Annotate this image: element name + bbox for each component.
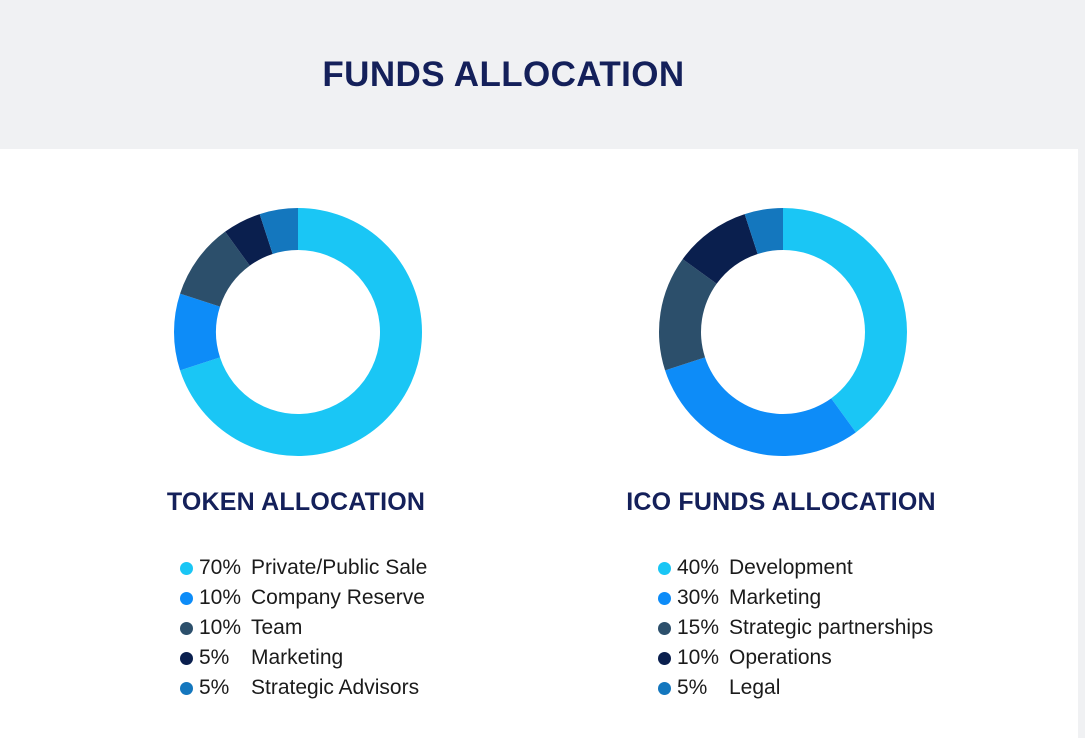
legend-item: 10%Team xyxy=(180,613,302,643)
legend-percent: 5% xyxy=(199,646,244,670)
legend-percent: 15% xyxy=(677,616,722,640)
panel-heading-token: TOKEN ALLOCATION xyxy=(66,488,526,517)
legend-label: Operations xyxy=(729,646,832,670)
legend-color-swatch xyxy=(180,652,193,665)
donut-segment xyxy=(174,294,220,371)
legend-percent: 10% xyxy=(199,616,244,640)
legend-percent: 5% xyxy=(199,676,244,700)
donut-svg-token xyxy=(172,206,424,458)
legend-color-swatch xyxy=(180,592,193,605)
legend-item: 10%Operations xyxy=(658,643,832,673)
legend-label: Marketing xyxy=(729,586,821,610)
legend-color-swatch xyxy=(658,652,671,665)
legend-color-swatch xyxy=(658,562,671,575)
legend-item: 30%Marketing xyxy=(658,583,821,613)
legend-label: Strategic Advisors xyxy=(251,676,419,700)
legend-color-swatch xyxy=(658,622,671,635)
legend-percent: 5% xyxy=(677,676,722,700)
donut-svg-ico xyxy=(657,206,909,458)
panel-token-allocation: TOKEN ALLOCATION 70%Private/Public Sale1… xyxy=(66,149,526,738)
legend-item: 70%Private/Public Sale xyxy=(180,553,427,583)
panel-ico-funds-allocation: ICO FUNDS ALLOCATION 40%Development30%Ma… xyxy=(551,149,1011,738)
page-title: FUNDS ALLOCATION xyxy=(0,0,1007,149)
legend-item: 40%Development xyxy=(658,553,853,583)
legend-label: Company Reserve xyxy=(251,586,425,610)
legend-color-swatch xyxy=(180,562,193,575)
legend-percent: 40% xyxy=(677,556,722,580)
donut-chart-ico-funds-allocation xyxy=(657,206,909,458)
legend-ico: 40%Development30%Marketing15%Strategic p… xyxy=(551,553,1011,703)
donut-segment xyxy=(665,357,856,456)
right-margin-strip xyxy=(1078,149,1085,738)
legend-percent: 30% xyxy=(677,586,722,610)
legend-color-swatch xyxy=(658,592,671,605)
legend-color-swatch xyxy=(180,622,193,635)
legend-color-swatch xyxy=(658,682,671,695)
legend-label: Development xyxy=(729,556,853,580)
legend-label: Strategic partnerships xyxy=(729,616,933,640)
header-band: FUNDS ALLOCATION xyxy=(0,0,1085,149)
donut-segment xyxy=(783,208,907,432)
legend-label: Marketing xyxy=(251,646,343,670)
legend-item: 5%Legal xyxy=(658,673,780,703)
legend-item: 15%Strategic partnerships xyxy=(658,613,933,643)
content-area: TOKEN ALLOCATION 70%Private/Public Sale1… xyxy=(0,149,1078,738)
legend-label: Legal xyxy=(729,676,780,700)
legend-percent: 70% xyxy=(199,556,244,580)
legend-item: 10%Company Reserve xyxy=(180,583,425,613)
legend-label: Private/Public Sale xyxy=(251,556,427,580)
legend-percent: 10% xyxy=(199,586,244,610)
legend-color-swatch xyxy=(180,682,193,695)
legend-percent: 10% xyxy=(677,646,722,670)
legend-item: 5%Strategic Advisors xyxy=(180,673,419,703)
donut-chart-token-allocation xyxy=(172,206,424,458)
legend-token: 70%Private/Public Sale10%Company Reserve… xyxy=(66,553,526,703)
legend-item: 5%Marketing xyxy=(180,643,343,673)
panel-heading-ico: ICO FUNDS ALLOCATION xyxy=(551,488,1011,517)
legend-label: Team xyxy=(251,616,302,640)
